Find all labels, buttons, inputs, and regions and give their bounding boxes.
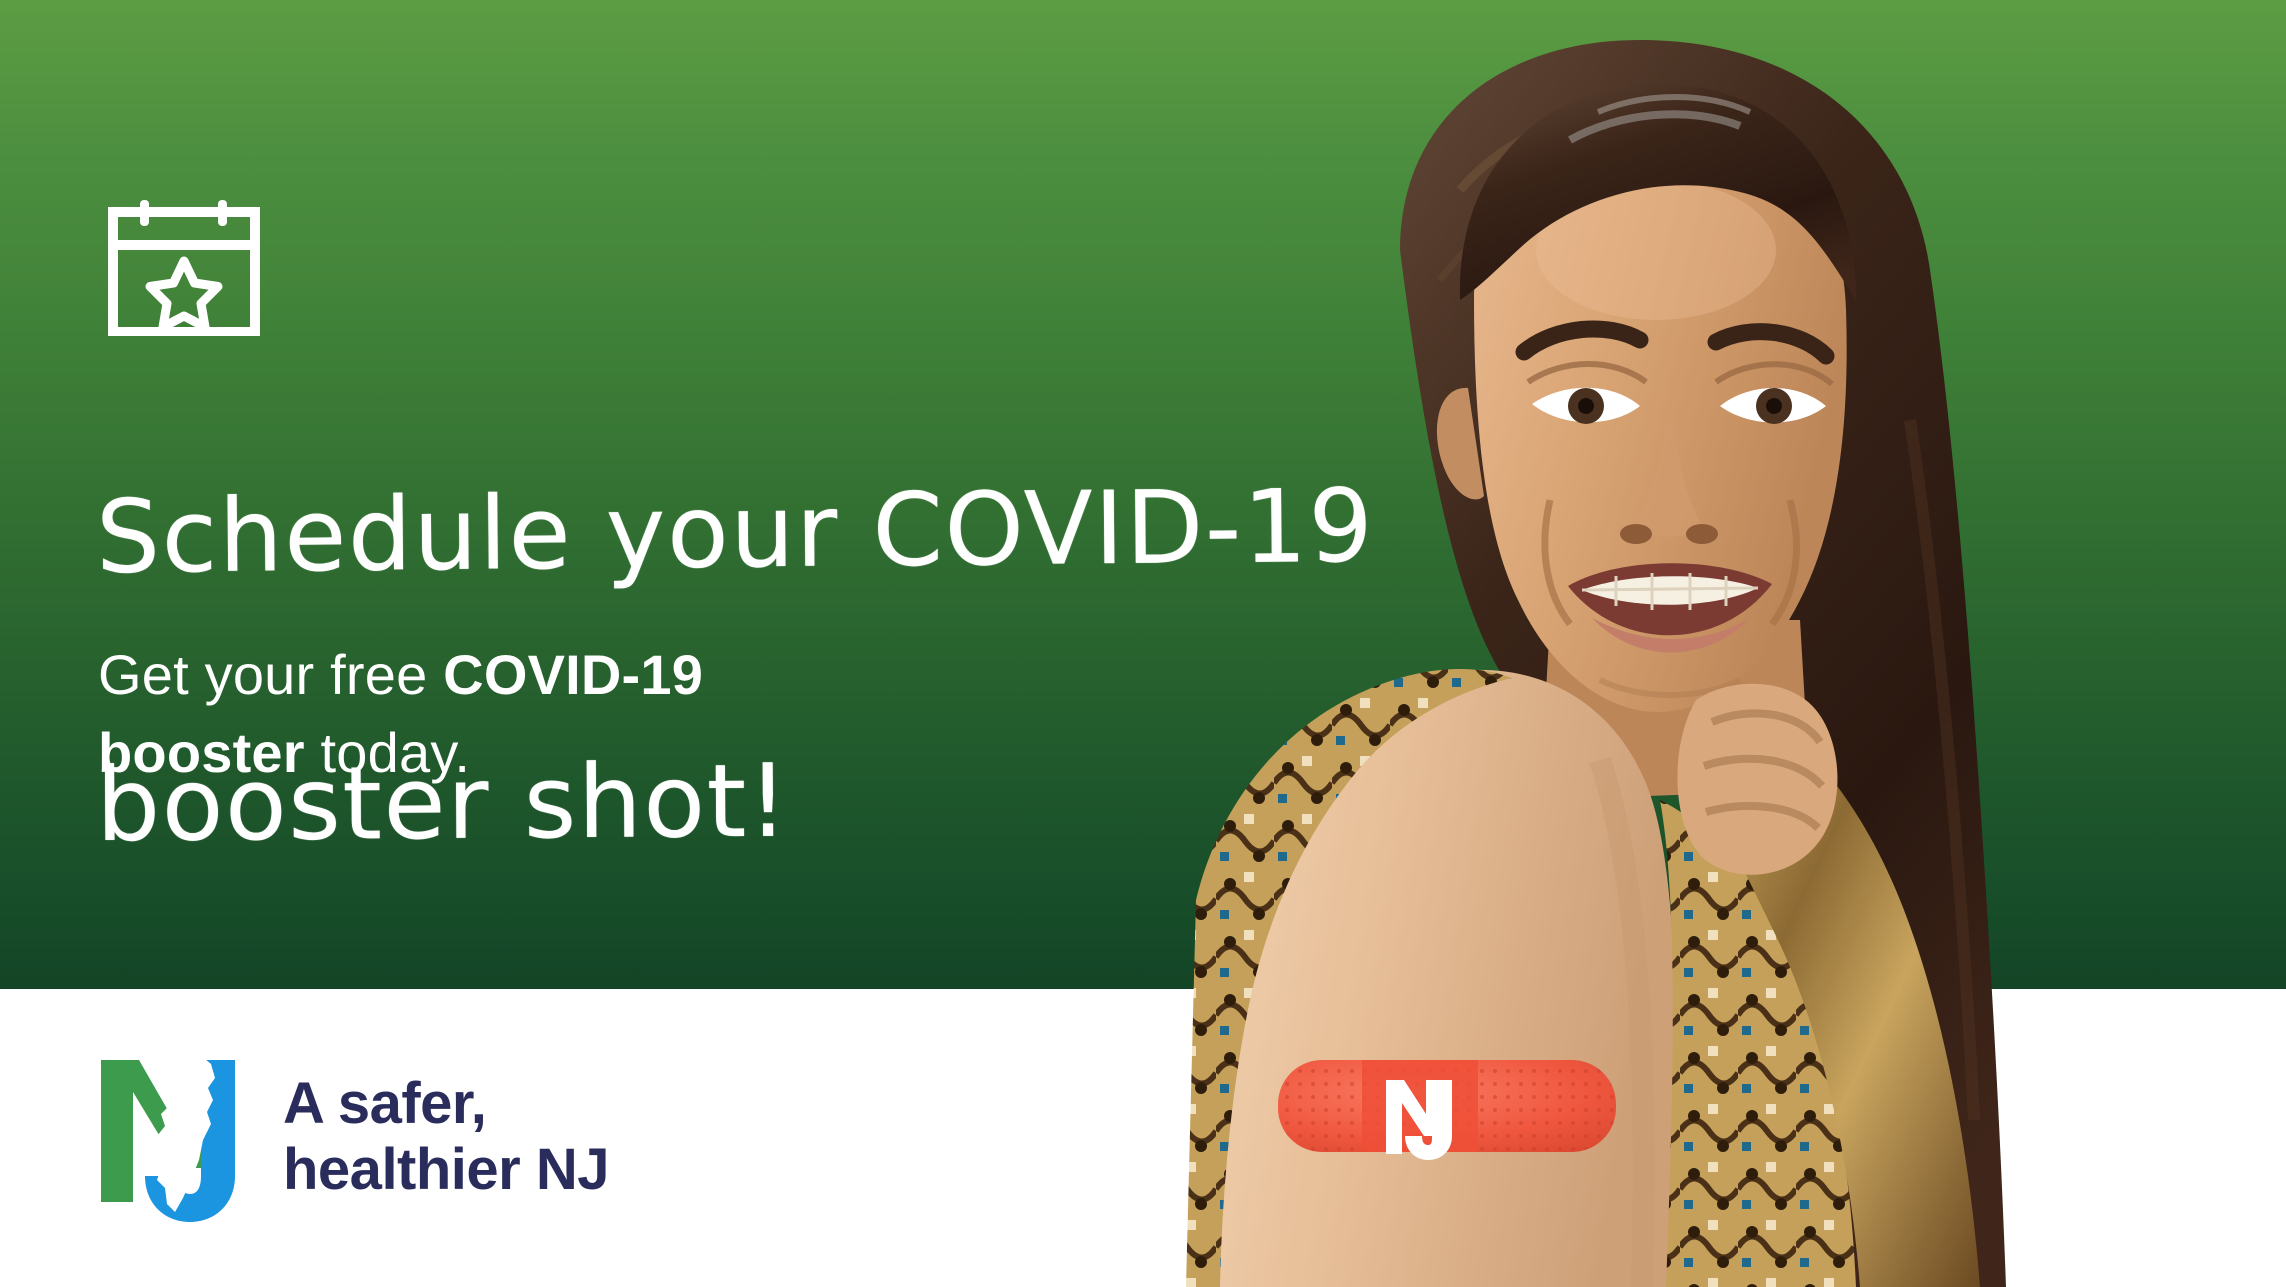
calendar-star-icon xyxy=(108,200,260,336)
nj-logo-tagline-line-1: A safer, xyxy=(283,1071,486,1136)
nj-logo-lockup: A safer,healthier NJ xyxy=(95,1048,609,1226)
subcopy: Get your free COVID-19 booster today. xyxy=(98,636,838,792)
subcopy-suffix: today. xyxy=(305,721,470,784)
subcopy-prefix: Get your free xyxy=(98,643,443,706)
covid-booster-banner: Schedule your COVID-19 booster shot! Get… xyxy=(0,0,2286,1287)
nj-state-logo-mark-icon xyxy=(95,1048,255,1226)
nj-logo-tagline: A safer,healthier NJ xyxy=(283,1071,609,1203)
nj-logo-tagline-line-2: healthier NJ xyxy=(283,1137,609,1202)
headline-line-1: Schedule your COVID-19 xyxy=(95,460,1386,604)
